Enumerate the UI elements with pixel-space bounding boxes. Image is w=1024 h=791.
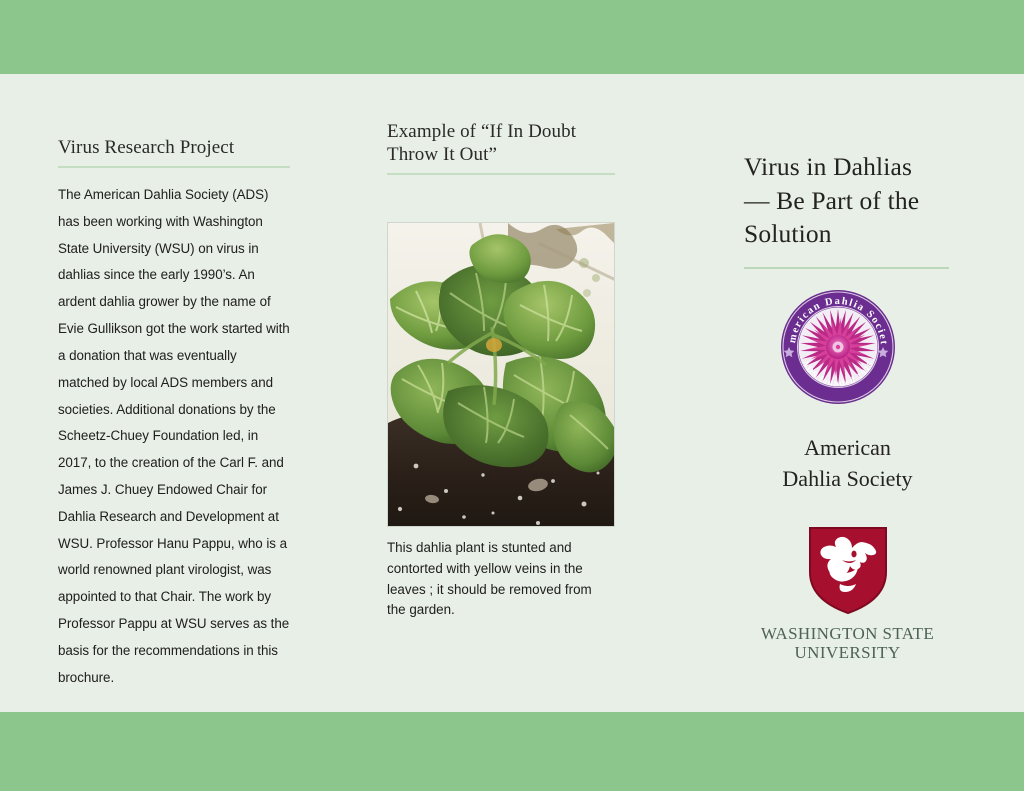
wsu-wordmark: WASHINGTON STATE UNIVERSITY (761, 624, 934, 662)
heading-divider (58, 166, 290, 168)
brochure-page: Virus Research Project The American Dahl… (0, 0, 1024, 791)
cover-title-block: Virus in Dahlias — Be Part of the Soluti… (744, 150, 955, 269)
diseased-dahlia-photo (387, 222, 615, 527)
virus-research-project-heading: Virus Research Project (58, 136, 290, 159)
photo-caption: This dahlia plant is stunted and contort… (387, 538, 612, 621)
left-panel-heading-block: Virus Research Project (58, 136, 290, 168)
wsu-wordmark-line2: UNIVERSITY (761, 643, 934, 662)
if-in-doubt-heading-line1: Example of “If In Doubt (387, 121, 576, 142)
cover-title-line2: — Be Part of the (744, 186, 919, 215)
brochure-content: Virus Research Project The American Dahl… (0, 74, 1024, 712)
cover-title-line3: Solution (744, 219, 832, 248)
if-in-doubt-heading: Example of “If In Doubt Throw It Out” (387, 120, 615, 166)
organization-name-line1: American (804, 435, 891, 460)
top-green-band (0, 0, 1024, 74)
organization-name: American Dahlia Society (740, 432, 955, 494)
wsu-shield-icon (806, 524, 890, 616)
washington-state-university-logo: WASHINGTON STATE UNIVERSITY (740, 524, 955, 662)
if-in-doubt-heading-line2: Throw It Out” (387, 144, 497, 165)
cover-title: Virus in Dahlias — Be Part of the Soluti… (744, 150, 955, 251)
american-dahlia-society-logo: American Dahlia Society ADS founded 1915 (778, 287, 898, 409)
middle-panel-heading-block: Example of “If In Doubt Throw It Out” (387, 120, 615, 175)
wsu-wordmark-line1: WASHINGTON STATE (761, 624, 934, 643)
virus-research-project-body: The American Dahlia Society (ADS) has be… (58, 182, 290, 691)
heading-divider (387, 173, 615, 175)
cover-title-line1: Virus in Dahlias (744, 152, 912, 181)
cover-title-divider (744, 267, 949, 269)
organization-name-line2: Dahlia Society (782, 466, 912, 491)
bottom-green-band (0, 712, 1024, 791)
